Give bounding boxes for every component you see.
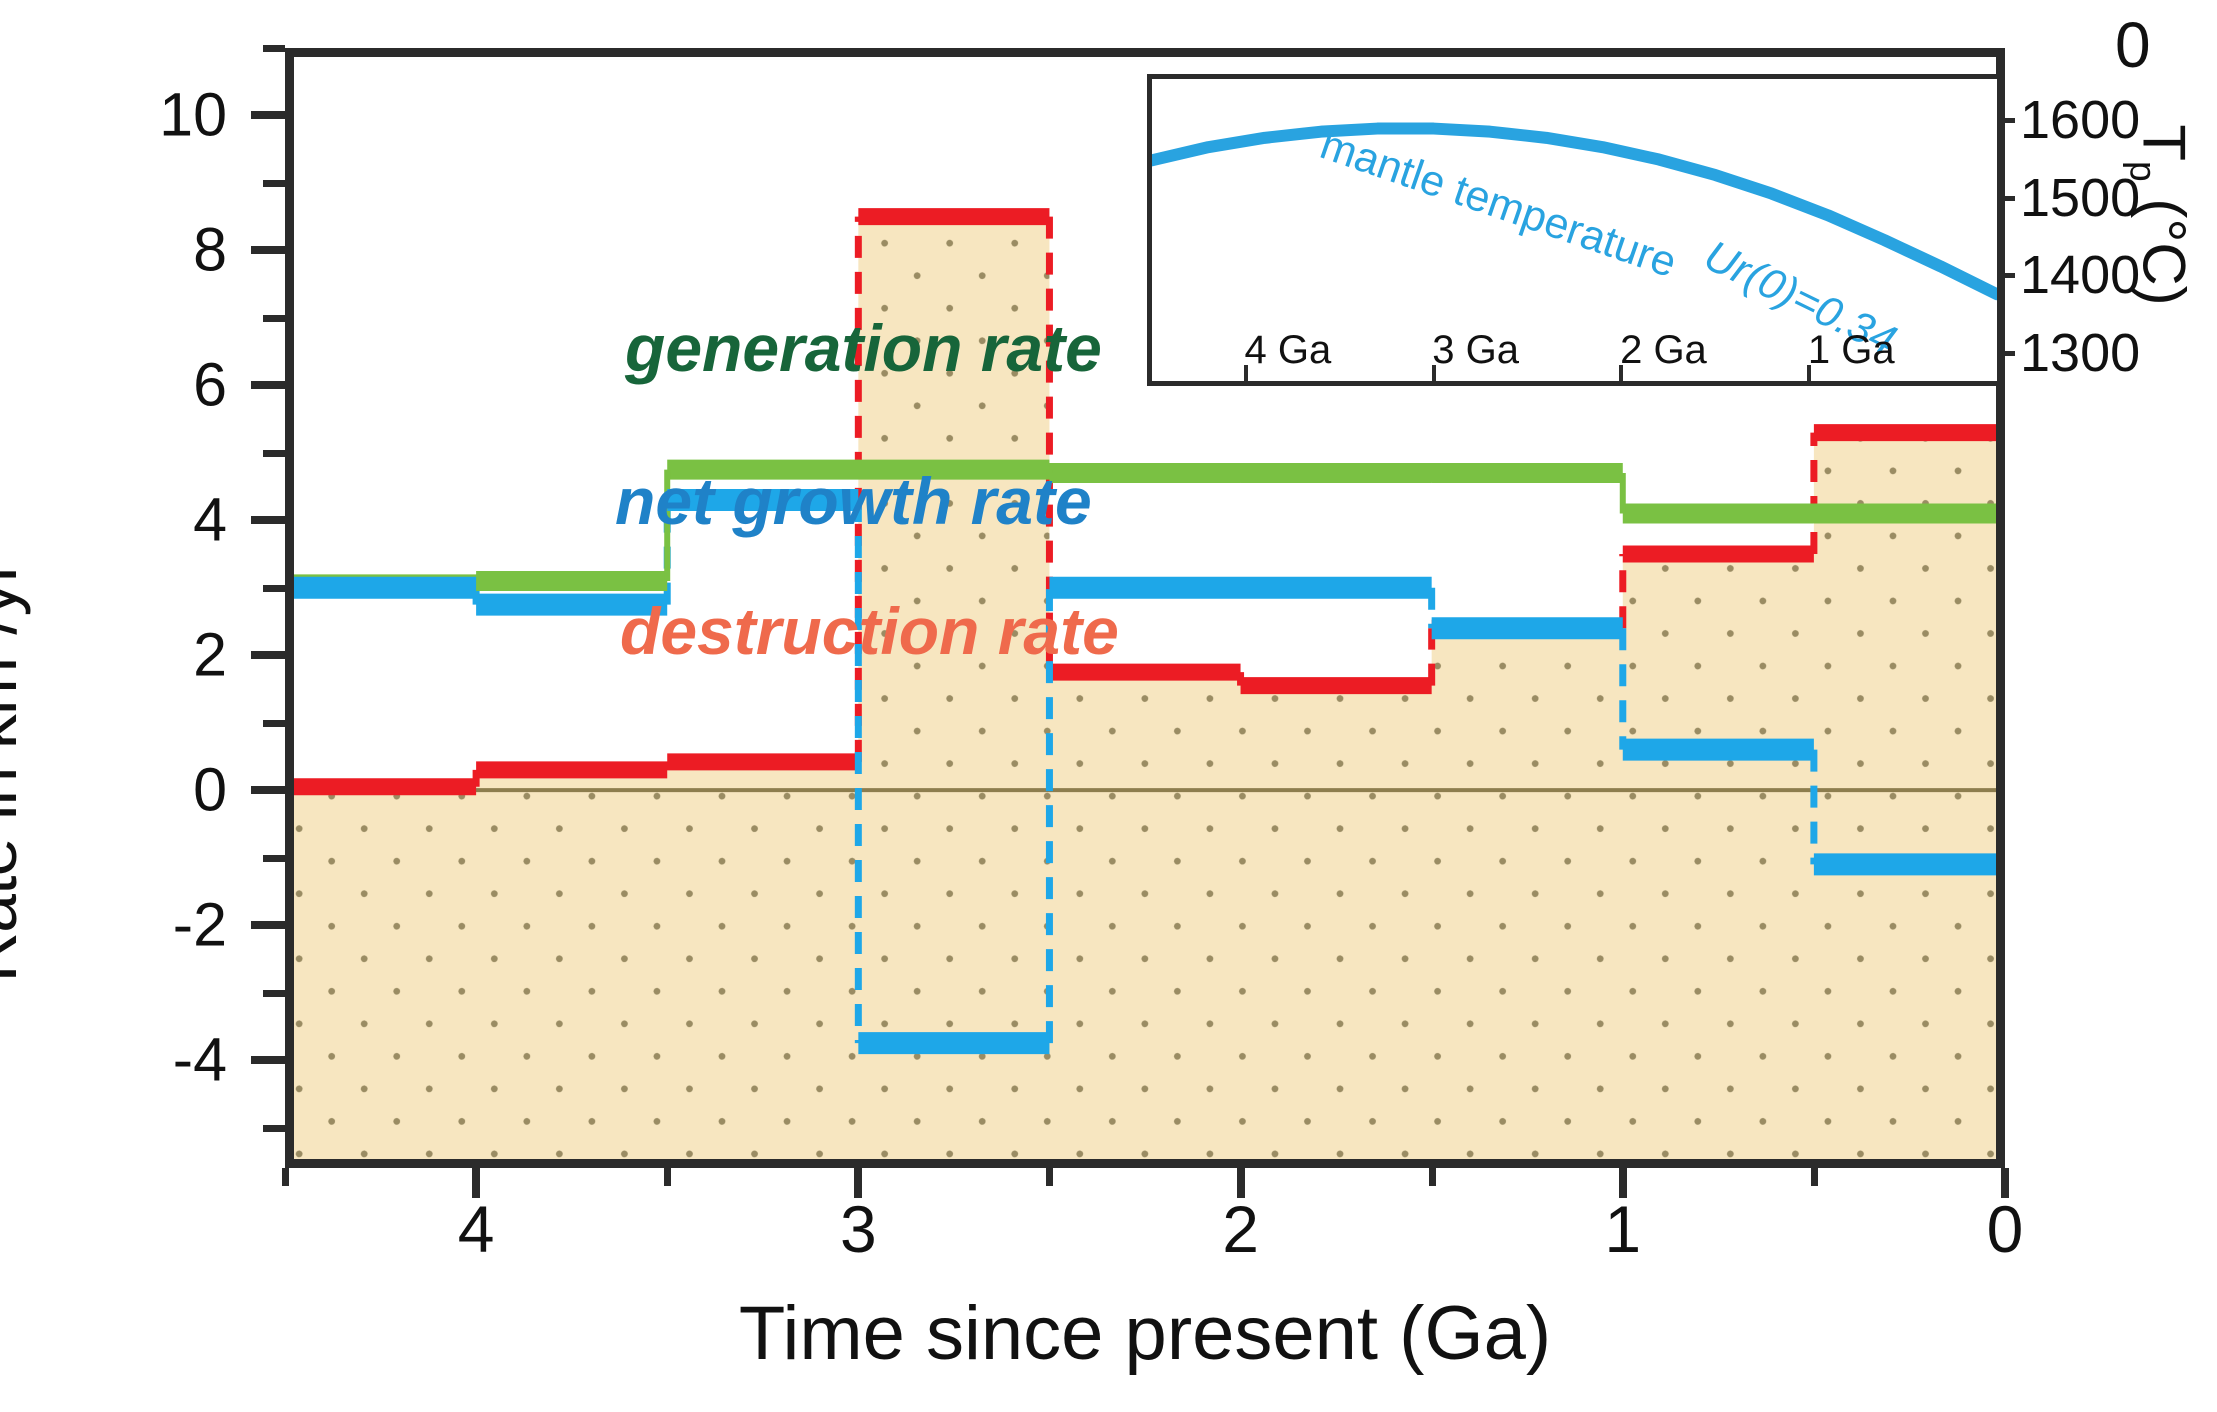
tp-tick-label: 1300 — [2020, 322, 2140, 384]
x-tick-label: 4 — [458, 1196, 495, 1262]
y-tick-major — [251, 516, 285, 524]
y-tick-major — [251, 786, 285, 794]
inset-x-tick-label: 4 Ga — [1245, 328, 1332, 373]
y-tick-minor — [263, 450, 285, 457]
inset-x-tick-label: 1 Ga — [1808, 328, 1895, 373]
y-tick-minor — [263, 585, 285, 592]
tp-tick — [1997, 273, 2015, 278]
y-tick-label: 0 — [0, 760, 227, 821]
generation-rate-label: generation rate — [625, 310, 1102, 386]
y-tick-label: 8 — [0, 220, 227, 281]
y-tick-major — [251, 1056, 285, 1064]
mantle-temperature-inset: mantle temperature Ur(0)=0.34 4 Ga3 Ga2 … — [1147, 74, 2002, 386]
y-tick-minor — [263, 720, 285, 727]
y-tick-label: 6 — [0, 355, 227, 416]
x-tick-label: 1 — [1604, 1196, 1641, 1262]
inset-x-tick-label: 3 Ga — [1432, 328, 1519, 373]
tp-axis-title: Tp (°C) — [2122, 124, 2199, 305]
y-axis-title-prefix: Rate in km — [0, 658, 31, 983]
x-tick-minor — [1429, 1168, 1436, 1186]
y-axis-title: Rate in km3/yr — [0, 560, 32, 982]
y-tick-minor — [263, 45, 285, 52]
x-tick-minor — [1811, 1168, 1818, 1186]
x-tick-label: 2 — [1222, 1196, 1259, 1262]
y-tick-major — [251, 921, 285, 929]
top-right-zero-label: 0 — [2115, 8, 2151, 82]
tp-tick — [1997, 118, 2015, 123]
y-tick-label: 2 — [0, 625, 227, 686]
x-axis-title: Time since present (Ga) — [739, 1290, 1551, 1377]
y-tick-label: -2 — [0, 895, 227, 956]
y-tick-major — [251, 651, 285, 659]
y-axis-title-suffix: /yr — [0, 560, 31, 635]
x-tick-minor — [1046, 1168, 1053, 1186]
y-tick-label: -4 — [0, 1030, 227, 1091]
destruction-rate-label: destruction rate — [620, 593, 1119, 669]
y-tick-minor — [263, 1125, 285, 1132]
x-tick-label: 3 — [840, 1196, 877, 1262]
tp-axis-title-units: (°C) — [2131, 182, 2198, 306]
y-tick-major — [251, 381, 285, 389]
x-tick-minor — [664, 1168, 671, 1186]
y-tick-minor — [263, 990, 285, 997]
y-tick-major — [251, 246, 285, 254]
y-tick-label: 10 — [0, 85, 227, 146]
y-tick-label: 4 — [0, 490, 227, 551]
y-tick-major — [251, 111, 285, 119]
tp-tick — [1997, 351, 2015, 356]
y-axis-title-exponent: 3 — [0, 635, 2, 658]
tp-axis-title-subscript: p — [2123, 161, 2165, 182]
x-tick-minor — [282, 1168, 289, 1186]
x-tick-label: 0 — [1987, 1196, 2024, 1262]
inset-x-tick-label: 2 Ga — [1620, 328, 1707, 373]
net-growth-rate-label: net growth rate — [615, 463, 1092, 539]
tp-tick — [1997, 196, 2015, 201]
y-tick-minor — [263, 180, 285, 187]
tp-axis-title-symbol: T — [2131, 124, 2198, 161]
y-tick-minor — [263, 315, 285, 322]
y-tick-minor — [263, 855, 285, 862]
